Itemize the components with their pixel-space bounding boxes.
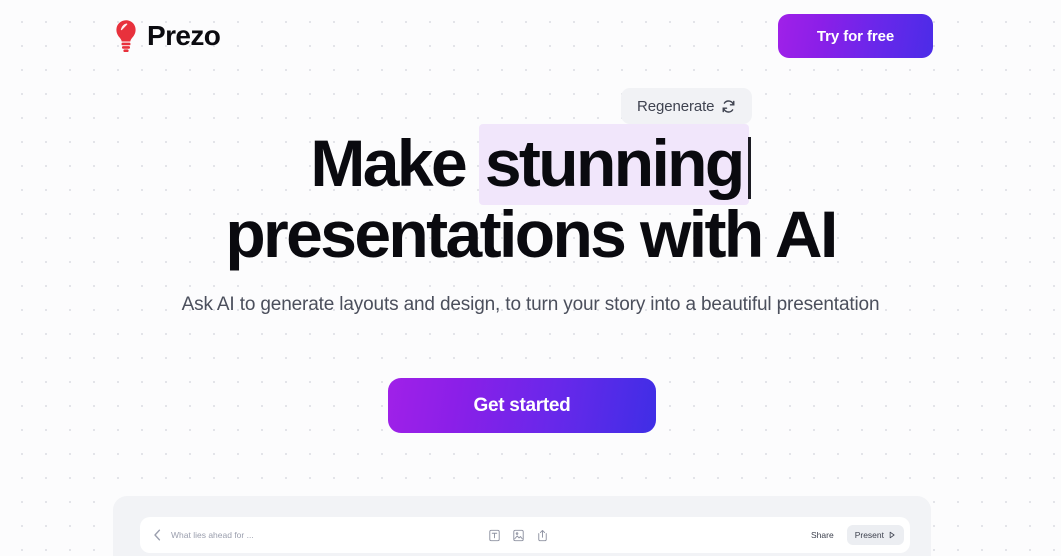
- brand-logo[interactable]: Prezo: [113, 19, 220, 53]
- share-button[interactable]: Share: [802, 525, 843, 545]
- get-started-button[interactable]: Get started: [388, 378, 656, 433]
- editor-preview-panel: What lies ahead for ...: [113, 496, 931, 556]
- headline-prefix: Make: [310, 126, 480, 200]
- site-header: Prezo Try for free: [0, 0, 1061, 72]
- editor-toolbar: What lies ahead for ...: [140, 517, 910, 553]
- headline-line-2: presentations with AI: [225, 197, 835, 271]
- play-icon: [888, 531, 896, 539]
- image-box-icon[interactable]: [512, 529, 525, 542]
- text-caret: [748, 137, 751, 199]
- share-box-icon[interactable]: [536, 529, 549, 542]
- try-for-free-button[interactable]: Try for free: [778, 14, 933, 58]
- text-box-icon[interactable]: [488, 529, 501, 542]
- editor-tool-group: [488, 529, 549, 542]
- headline-line-1: Make stunning: [310, 126, 750, 200]
- page-title: Make stunning presentations with AI: [0, 128, 1061, 269]
- regenerate-label: Regenerate: [637, 98, 714, 115]
- regenerate-button[interactable]: Regenerate: [621, 88, 752, 124]
- hero-subtitle: Ask AI to generate layouts and design, t…: [0, 294, 1061, 316]
- refresh-icon: [721, 99, 736, 114]
- chevron-left-icon[interactable]: [148, 526, 166, 544]
- brand-name: Prezo: [147, 20, 220, 52]
- present-button[interactable]: Present: [847, 525, 904, 545]
- editor-actions: Share Present: [802, 525, 904, 545]
- present-label: Present: [855, 530, 884, 540]
- deck-title[interactable]: What lies ahead for ...: [171, 530, 254, 540]
- headline-highlight: stunning: [479, 124, 749, 205]
- lightbulb-icon: [113, 19, 139, 53]
